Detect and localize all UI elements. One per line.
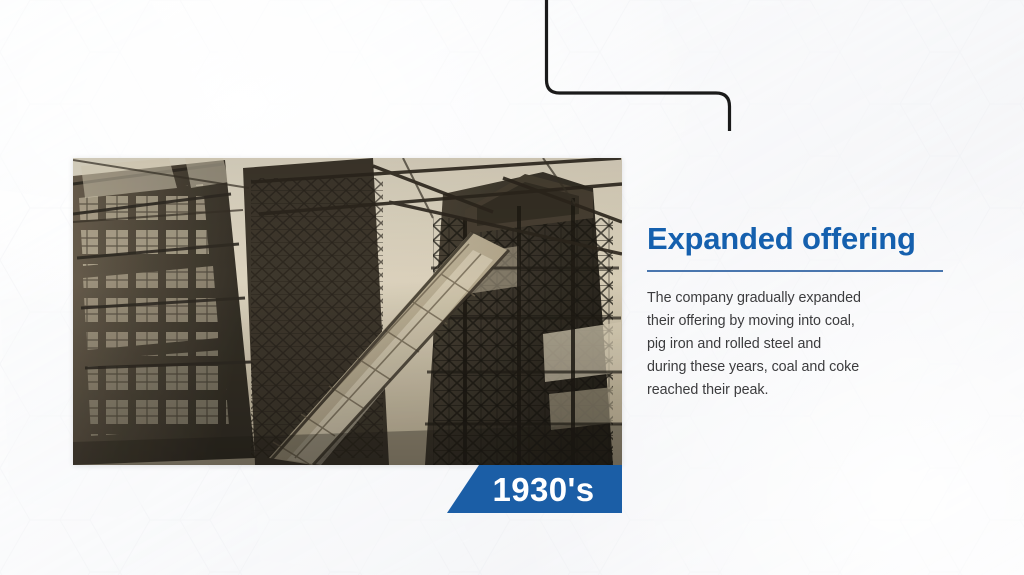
body-line: The company gradually expanded xyxy=(647,287,947,310)
content-column: Expanded offering The company gradually … xyxy=(647,222,947,403)
body-line: during these years, coal and coke xyxy=(647,356,947,379)
year-label: 1930's xyxy=(474,473,594,506)
historical-photo xyxy=(73,158,622,465)
slide-canvas: 1930's Expanded offering The company gra… xyxy=(0,0,1024,575)
body-line: reached their peak. xyxy=(647,379,947,402)
page-title: Expanded offering xyxy=(647,222,947,257)
body-line: pig iron and rolled steel and xyxy=(647,333,947,356)
title-underline-rule xyxy=(647,270,943,272)
body-paragraph: The company gradually expanded their off… xyxy=(647,287,947,403)
body-line: their offering by moving into coal, xyxy=(647,310,947,333)
